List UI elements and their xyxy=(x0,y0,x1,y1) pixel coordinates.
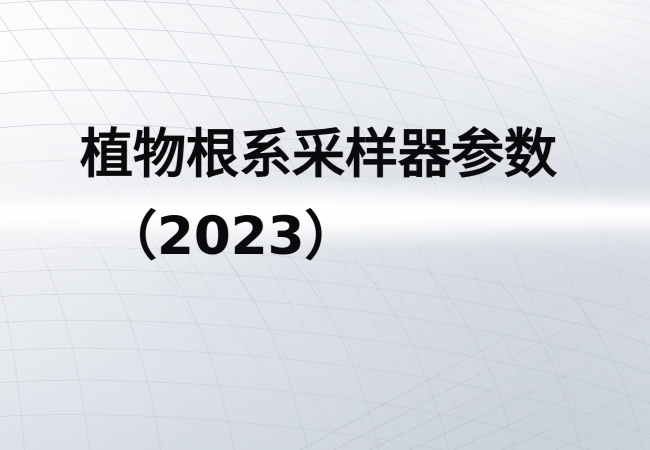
page-title: 植物根系采样器参数 xyxy=(80,124,557,186)
page-title-year: （2023） xyxy=(104,206,358,268)
title-block: 植物根系采样器参数 （2023） xyxy=(0,0,650,450)
title-slide: 植物根系采样器参数 （2023） xyxy=(0,0,650,450)
